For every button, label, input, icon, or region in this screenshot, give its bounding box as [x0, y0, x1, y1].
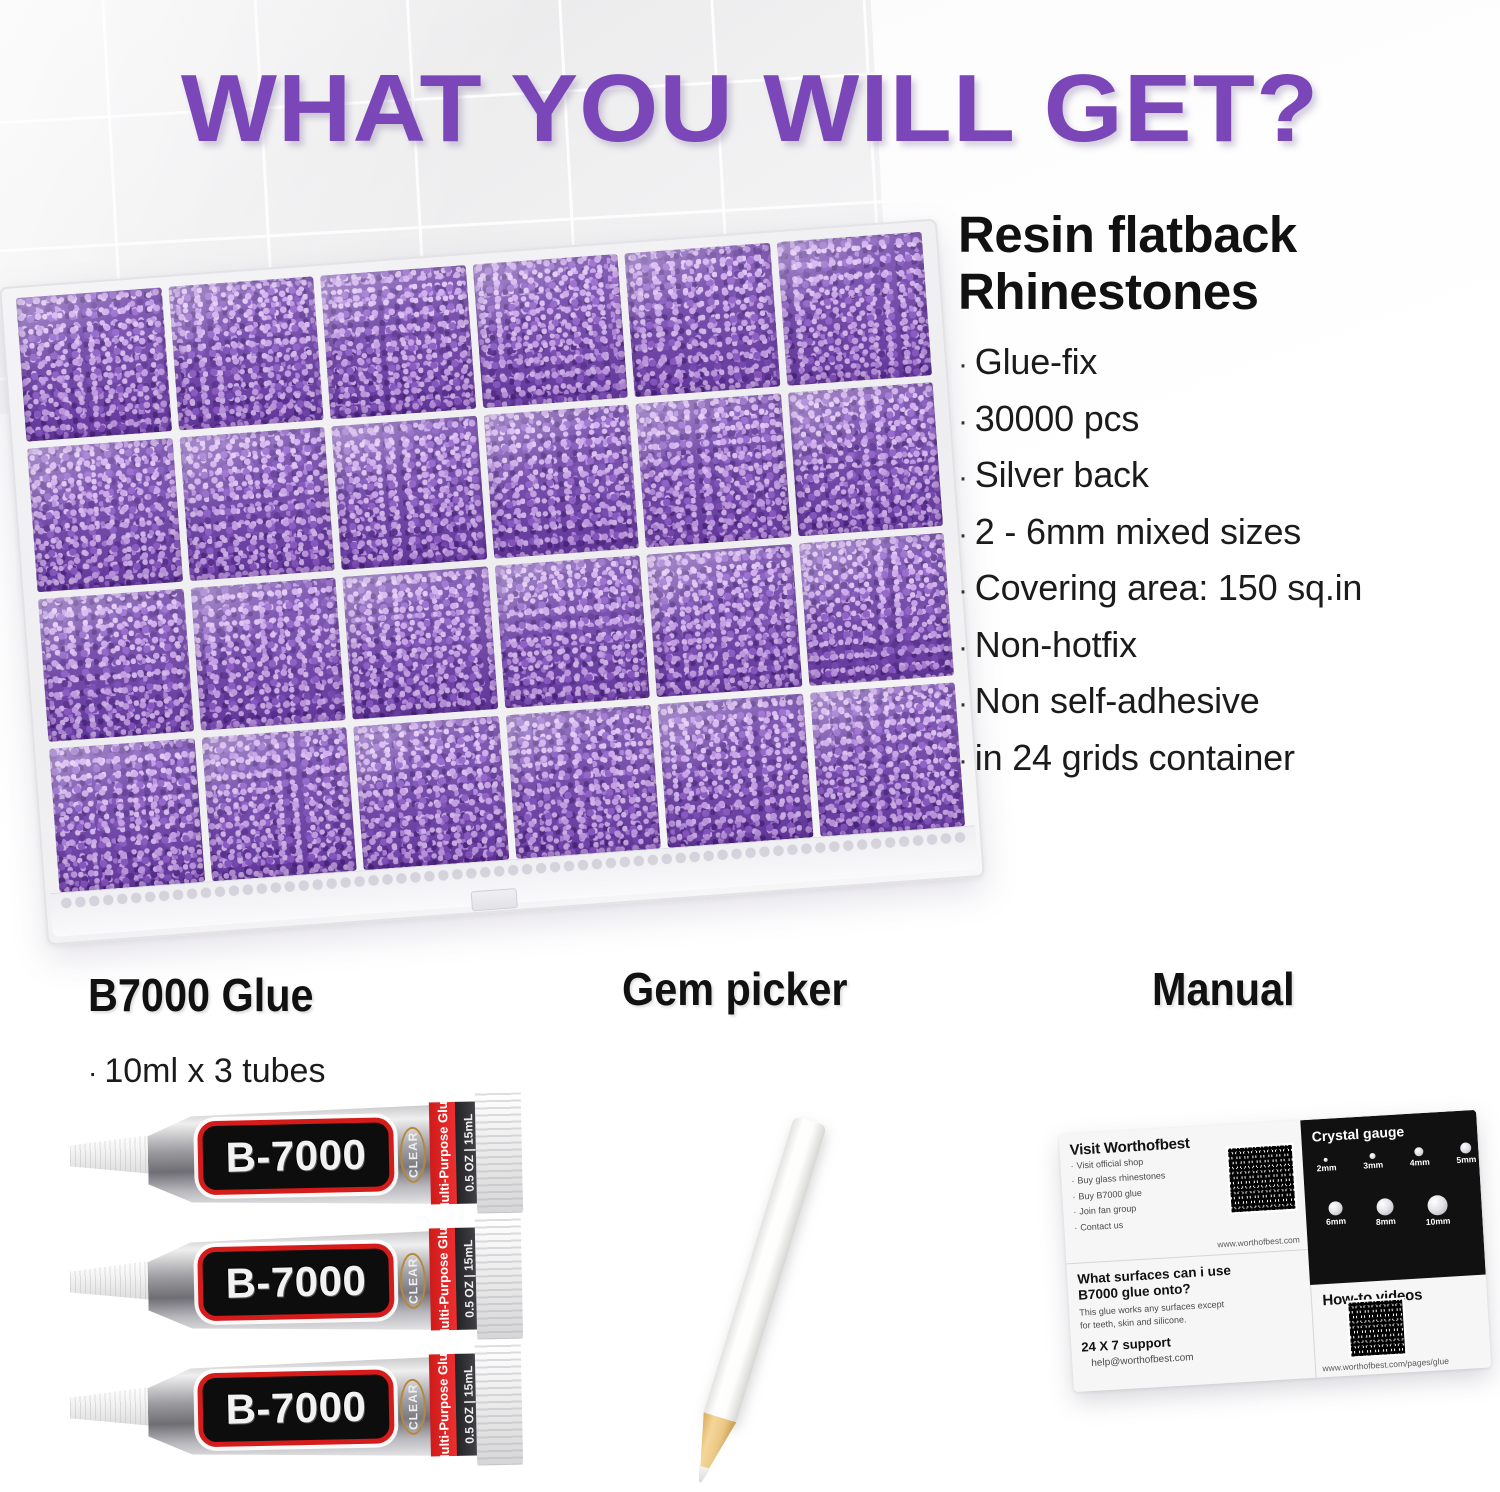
product-feature-item: ·Non-hotfix	[958, 617, 1488, 674]
pencil-tip	[688, 1412, 736, 1474]
crystal-gauge-label: 10mm	[1426, 1216, 1451, 1227]
bullet-icon: ·	[958, 461, 975, 494]
crystal-gauge-item: 10mm	[1424, 1195, 1450, 1227]
manual-visit-item-text: Contact us	[1080, 1220, 1124, 1233]
product-heading-line1: Resin flatback	[958, 206, 1488, 263]
crystal-gauge-dot	[1369, 1153, 1375, 1159]
wax-pencil	[703, 1116, 827, 1424]
glue-quantity-detail: ·10ml x 3 tubes	[88, 1052, 325, 1091]
crystal-gauge-label: 5mm	[1456, 1154, 1476, 1165]
rhinestone-grid-cell	[190, 577, 346, 731]
glue-tubes-image: B-7000CLEARMulti-Purpose Glue0.5 OZ | 15…	[70, 1098, 540, 1492]
tube-clear-text: CLEAR	[405, 1132, 420, 1179]
manual-visit-item-text: Visit official shop	[1076, 1157, 1143, 1171]
rhinestone-grid-cell	[179, 427, 335, 581]
bullet-icon: ·	[958, 405, 975, 438]
crystal-gauge-label: 4mm	[1410, 1157, 1430, 1168]
bullet-icon: ·	[958, 744, 975, 777]
rhinestone-grid-cell	[646, 543, 802, 697]
product-feature-list: ·Glue-fix·30000 pcs·Silver back·2 - 6mm …	[958, 334, 1488, 786]
bullet-icon: ·	[958, 574, 975, 607]
page-title: WHAT YOU WILL GET?	[0, 54, 1500, 164]
crystal-gauge-item: 4mm	[1409, 1147, 1430, 1168]
crystal-gauge-label: 2mm	[1316, 1162, 1336, 1173]
tube-clear-text: CLEAR	[405, 1258, 420, 1305]
rhinestone-grid-cell	[331, 415, 487, 569]
section-heading-manual: Manual	[1152, 962, 1295, 1016]
qr-code-videos-icon	[1347, 1298, 1408, 1359]
rhinestone-grid-cell	[776, 232, 932, 386]
crystal-gauge-dot	[1328, 1201, 1343, 1216]
rhinestone-container-image	[0, 218, 985, 945]
crystal-gauge-label: 6mm	[1326, 1216, 1346, 1227]
crystal-gauge-dot	[1414, 1147, 1424, 1157]
crystal-gauge-item: 8mm	[1375, 1198, 1396, 1227]
rhinestone-grid-cell	[787, 382, 943, 536]
tube-crimped-end	[475, 1093, 524, 1214]
tube-brand-text: B-7000	[225, 1257, 367, 1308]
rhinestone-grid-cell	[38, 588, 194, 742]
crystal-gauge-label: 3mm	[1363, 1159, 1383, 1170]
crystal-gauge-item: 3mm	[1363, 1152, 1384, 1170]
manual-visit-quadrant: Visit Worthofbest ·Visit official shop·B…	[1059, 1120, 1309, 1263]
crystal-gauge-row-small: 2mm3mm4mm5mm	[1312, 1139, 1470, 1198]
tube-brand-label: B-7000	[197, 1369, 395, 1447]
product-feature-text: Silver back	[975, 454, 1149, 495]
glue-tube: B-7000CLEARMulti-Purpose Glue0.5 OZ | 15…	[69, 1093, 523, 1222]
rhinestone-grid-cell	[798, 532, 954, 686]
product-feature-item: ·Non self-adhesive	[958, 673, 1488, 730]
tube-crimped-end	[475, 1219, 524, 1340]
bullet-icon: ·	[958, 687, 975, 720]
tube-purpose-text: Multi-Purpose Glue	[435, 1219, 452, 1338]
product-feature-text: Glue-fix	[975, 341, 1097, 382]
manual-faq-quadrant: What surfaces can i use B7000 glue onto?…	[1066, 1249, 1316, 1392]
gem-picker-image	[640, 1100, 970, 1470]
crystal-gauge-dot	[1376, 1198, 1394, 1216]
manual-gauge-quadrant: Crystal gauge 2mm3mm4mm5mm 6mm8mm10mm	[1301, 1110, 1486, 1285]
manual-card-image: Visit Worthofbest ·Visit official shop·B…	[1059, 1110, 1492, 1392]
tube-clear-text: CLEAR	[405, 1384, 420, 1431]
manual-visit-item-text: Buy B7000 glue	[1078, 1188, 1142, 1202]
crystal-gauge-dot	[1324, 1158, 1328, 1162]
rhinestone-grid-cell	[49, 738, 205, 892]
product-feature-item: ·Glue-fix	[958, 334, 1488, 391]
tube-brand-text: B-7000	[225, 1131, 367, 1182]
rhinestone-grid	[16, 232, 965, 893]
tube-nozzle	[69, 1134, 156, 1176]
manual-videos-quadrant: How-to videos www.worthofbest.com/pages/…	[1311, 1275, 1492, 1378]
manual-visit-item-text: Buy glass rhinestones	[1077, 1171, 1166, 1186]
product-feature-item: ·2 - 6mm mixed sizes	[958, 504, 1488, 561]
rhinestone-grid-cell	[494, 555, 650, 709]
tube-nozzle	[69, 1260, 156, 1302]
product-feature-text: 2 - 6mm mixed sizes	[975, 511, 1301, 552]
rhinestone-grid-cell	[16, 287, 172, 441]
product-heading-line2: Rhinestones	[958, 263, 1488, 320]
tube-crimped-end	[475, 1345, 524, 1466]
crystal-gauge-item: 2mm	[1316, 1157, 1337, 1173]
glue-tube: B-7000CLEARMulti-Purpose Glue0.5 OZ | 15…	[69, 1219, 523, 1348]
crystal-gauge-row-large: 6mm8mm10mm	[1316, 1193, 1474, 1252]
section-heading-glue: B7000 Glue	[88, 968, 314, 1022]
rhinestone-grid-cell	[635, 393, 791, 547]
product-feature-text: Covering area: 150 sq.in	[975, 567, 1362, 608]
product-heading: Resin flatback Rhinestones	[958, 206, 1488, 320]
tube-purpose-text: Multi-Purpose Glue	[435, 1345, 452, 1464]
howto-videos-url: www.worthofbest.com/pages/glue	[1322, 1356, 1449, 1373]
rhinestone-grid-cell	[472, 254, 628, 408]
product-feature-item: ·30000 pcs	[958, 391, 1488, 448]
bullet-icon: ·	[958, 631, 975, 664]
qr-code-shop-icon	[1226, 1143, 1298, 1215]
tube-brand-text: B-7000	[225, 1383, 367, 1434]
rhinestone-grid-cell	[27, 438, 183, 592]
rhinestone-grid-cell	[342, 566, 498, 720]
glue-tube: B-7000CLEARMulti-Purpose Glue0.5 OZ | 15…	[69, 1345, 523, 1474]
product-feature-item: ·in 24 grids container	[958, 730, 1488, 787]
crystal-gauge-item: 6mm	[1325, 1201, 1346, 1227]
bullet-icon: ·	[958, 348, 975, 381]
tube-brand-label: B-7000	[197, 1117, 395, 1195]
tube-purpose-text: Multi-Purpose Glue	[435, 1093, 452, 1212]
rhinestone-grid-cell	[201, 727, 357, 881]
product-spec-panel: Resin flatback Rhinestones ·Glue-fix·300…	[958, 206, 1488, 786]
manual-visit-item-text: Join fan group	[1079, 1204, 1137, 1217]
crystal-gauge-dot	[1427, 1195, 1448, 1216]
bullet-icon: ·	[88, 1057, 104, 1088]
glue-quantity-text: 10ml x 3 tubes	[104, 1052, 325, 1090]
rhinestone-grid-cell	[483, 404, 639, 558]
crystal-gauge-item: 5mm	[1455, 1142, 1476, 1165]
rhinestone-grid-cell	[353, 716, 509, 870]
rhinestone-grid-cell	[657, 694, 813, 848]
product-feature-item: ·Silver back	[958, 447, 1488, 504]
rhinestone-grid-cell	[624, 243, 780, 397]
rhinestone-grid-cell	[168, 276, 324, 430]
product-feature-text: 30000 pcs	[975, 398, 1139, 439]
product-feature-item: ·Covering area: 150 sq.in	[958, 560, 1488, 617]
crystal-gauge-dot	[1460, 1142, 1472, 1154]
product-feature-text: Non self-adhesive	[975, 680, 1260, 721]
product-feature-text: in 24 grids container	[975, 737, 1295, 778]
crystal-gauge-label: 8mm	[1376, 1216, 1396, 1227]
manual-visit-url: www.worthofbest.com	[1217, 1235, 1300, 1250]
section-heading-picker: Gem picker	[622, 962, 848, 1016]
container-latch	[471, 888, 518, 911]
rhinestone-grid-cell	[505, 705, 661, 859]
product-feature-text: Non-hotfix	[975, 624, 1137, 665]
rhinestone-grid-cell	[320, 265, 476, 419]
tube-nozzle	[69, 1386, 156, 1428]
rhinestone-grid-cell	[810, 683, 966, 837]
bullet-icon: ·	[958, 518, 975, 551]
tube-brand-label: B-7000	[197, 1243, 395, 1321]
